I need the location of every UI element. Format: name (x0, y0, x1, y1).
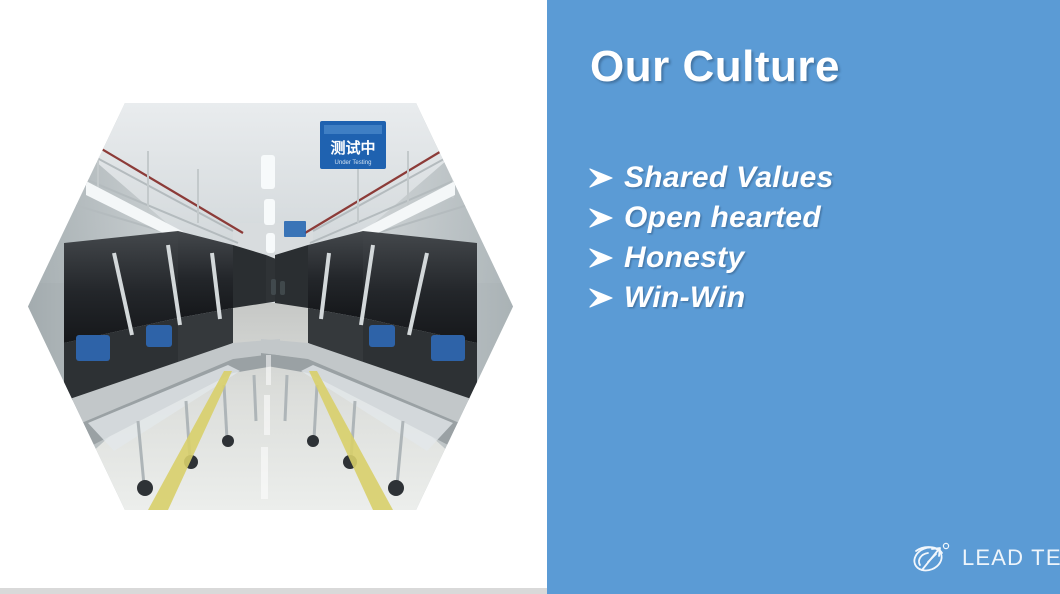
lead-tech-logo: LEAD TECH (908, 540, 1060, 576)
slide: 测试中 Under Testing (0, 0, 1060, 594)
list-item-label: Win-Win (624, 281, 746, 315)
culture-values-list: Shared Values Open hearted Honesty (588, 158, 1028, 318)
under-testing-sign: 测试中 Under Testing (320, 121, 386, 169)
svg-text:测试中: 测试中 (330, 139, 375, 157)
arrowhead-bullet-icon (588, 287, 624, 309)
culture-photo-hexagon: 测试中 Under Testing (28, 103, 513, 510)
arrowhead-bullet-icon (588, 247, 624, 269)
logo-text: LEAD TECH (962, 545, 1060, 571)
lead-tech-swirl-arrow-icon (908, 540, 954, 576)
list-item-label: Open hearted (624, 201, 821, 235)
page-title: Our Culture (590, 42, 840, 92)
list-item: Shared Values (588, 158, 1028, 198)
arrowhead-bullet-icon (588, 167, 624, 189)
svg-text:Under Testing: Under Testing (335, 160, 372, 166)
list-item: Open hearted (588, 198, 1028, 238)
arrowhead-bullet-icon (588, 207, 624, 229)
list-item: Win-Win (588, 278, 1028, 318)
factory-photo-illustration: 测试中 Under Testing (28, 103, 513, 510)
list-item: Honesty (588, 238, 1028, 278)
list-item-label: Honesty (624, 241, 744, 275)
slide-bottom-rule (0, 588, 547, 594)
list-item-label: Shared Values (624, 161, 834, 195)
